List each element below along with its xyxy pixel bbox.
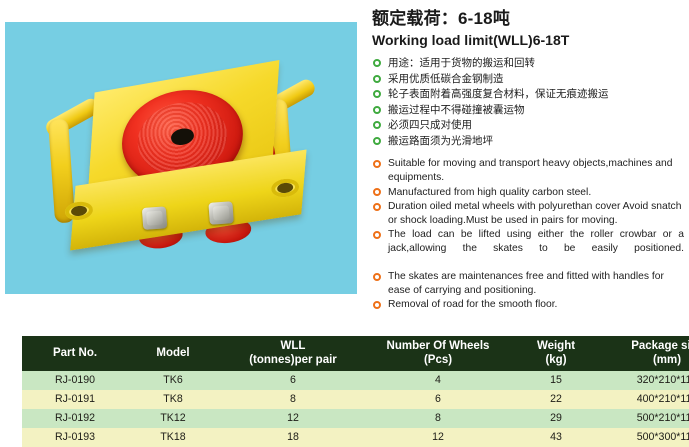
machinery-skate-illustration [9,22,349,291]
cell-wll: 18 [218,428,368,447]
list-item: The load can be lifted using either the … [372,228,684,269]
header-line-1: Weight [537,340,575,352]
list-item: Suitable for moving and transport heavy … [372,157,684,184]
cell-wheels: 6 [368,390,508,409]
list-item-label: 用途：适用于货物的搬运和回转 [388,57,535,69]
turntable-center-hole [170,127,196,147]
cell-weight: 43 [508,428,604,447]
column-header-wheels: Number Of Wheels (Pcs) [368,336,508,371]
list-item: 采用优质低碳合金钢制造 [372,72,684,88]
cell-part-no: RJ-0193 [22,428,128,447]
ring-bullet-icon [373,301,381,309]
list-item-label: Removal of road for the smooth floor. [388,299,557,310]
list-item: Removal of road for the smooth floor. [372,298,684,312]
cell-package: 320*210*110 [604,371,689,390]
header-line-1: Part No. [53,347,97,359]
column-header-wll: WLL (tonnes)per pair [218,336,368,371]
list-item-label: 采用优质低碳合金钢制造 [388,73,504,85]
list-item-label: 必须四只成对使用 [388,119,472,131]
header-line-1: WLL [281,340,306,352]
ring-bullet-icon [373,106,381,114]
list-item: 搬运路面须为光滑地坪 [372,134,684,150]
header-line-1: Number Of Wheels [387,340,490,352]
cell-weight: 22 [508,390,604,409]
list-item-label: 搬运过程中不得碰撞被囊运物 [388,104,525,116]
cell-part-no: RJ-0192 [22,409,128,428]
list-item: The skates are maintenances free and fit… [372,270,684,297]
cell-package: 400*210*110 [604,390,689,409]
table-row: RJ-0191 TK8 8 6 22 400*210*110 [22,390,689,409]
cell-weight: 15 [508,371,604,390]
cell-wheels: 12 [368,428,508,447]
list-item-label: The load can be lifted using either the … [388,229,684,254]
column-header-model: Model [128,336,218,371]
ring-bullet-icon [373,59,381,67]
table-row: RJ-0192 TK12 12 8 29 500*210*113 [22,409,689,428]
ring-bullet-icon [373,273,381,281]
axle-bolt-right [208,201,233,225]
header-line-2: (tonnes)per pair [249,354,337,366]
ring-bullet-icon [373,188,381,196]
product-title-chinese: 额定载荷：6-18吨 [372,8,684,29]
cell-part-no: RJ-0191 [22,390,128,409]
ring-bullet-icon [373,90,381,98]
cell-wll: 8 [218,390,368,409]
cell-model: TK8 [128,390,218,409]
list-item: 搬运过程中不得碰撞被囊运物 [372,103,684,119]
header-line-2: (mm) [653,354,681,366]
header-line-2: (kg) [545,354,566,366]
cell-model: TK12 [128,409,218,428]
ring-bullet-icon [373,160,381,168]
ring-bullet-icon [373,137,381,145]
list-item-label: Duration oiled metal wheels with polyure… [388,201,681,226]
product-info-panel: 额定载荷：6-18吨 Working load limit(WLL)6-18T … [372,8,684,313]
list-item: 用途：适用于货物的搬运和回转 [372,56,684,72]
ring-bullet-icon [373,231,381,239]
header-line-1: Package size [631,340,689,352]
cell-wheels: 4 [368,371,508,390]
product-title-english: Working load limit(WLL)6-18T [372,31,684,49]
axle-bolt-left [142,206,167,230]
cell-model: TK6 [128,371,218,390]
header-line-1: Model [156,347,189,359]
list-item-label: Manufactured from high quality carbon st… [388,187,591,198]
cell-model: TK18 [128,428,218,447]
cell-wll: 12 [218,409,368,428]
list-item-label: 轮子表面附着高强度复合材料，保证无痕迹搬运 [388,88,609,100]
table-row: RJ-0190 TK6 6 4 15 320*210*110 [22,371,689,390]
cell-package: 500*210*113 [604,409,689,428]
ring-bullet-icon [373,75,381,83]
header-line-2: (Pcs) [424,354,452,366]
list-item: 必须四只成对使用 [372,118,684,134]
ring-bullet-icon [373,203,381,211]
specification-table: Part No. Model WLL (tonnes)per pair Numb… [22,336,689,447]
column-header-package-size: Package size (mm) [604,336,689,371]
english-feature-list: Suitable for moving and transport heavy … [372,157,684,312]
chinese-feature-list: 用途：适用于货物的搬运和回转 采用优质低碳合金钢制造 轮子表面附着高强度复合材料… [372,56,684,149]
table-row: RJ-0193 TK18 18 12 43 500*300*115 [22,428,689,447]
column-header-weight: Weight (kg) [508,336,604,371]
list-item: 轮子表面附着高强度复合材料，保证无痕迹搬运 [372,87,684,103]
list-item-label: The skates are maintenances free and fit… [388,271,664,296]
list-item: Manufactured from high quality carbon st… [372,186,684,200]
cell-weight: 29 [508,409,604,428]
cell-wheels: 8 [368,409,508,428]
cell-part-no: RJ-0190 [22,371,128,390]
list-item-label: Suitable for moving and transport heavy … [388,158,672,183]
list-item-label: 搬运路面须为光滑地坪 [388,135,493,147]
table-header-row: Part No. Model WLL (tonnes)per pair Numb… [22,336,689,371]
cell-package: 500*300*115 [604,428,689,447]
list-item: Duration oiled metal wheels with polyure… [372,200,684,227]
cell-wll: 6 [218,371,368,390]
product-photo [5,22,357,294]
ring-bullet-icon [373,121,381,129]
column-header-part-no: Part No. [22,336,128,371]
